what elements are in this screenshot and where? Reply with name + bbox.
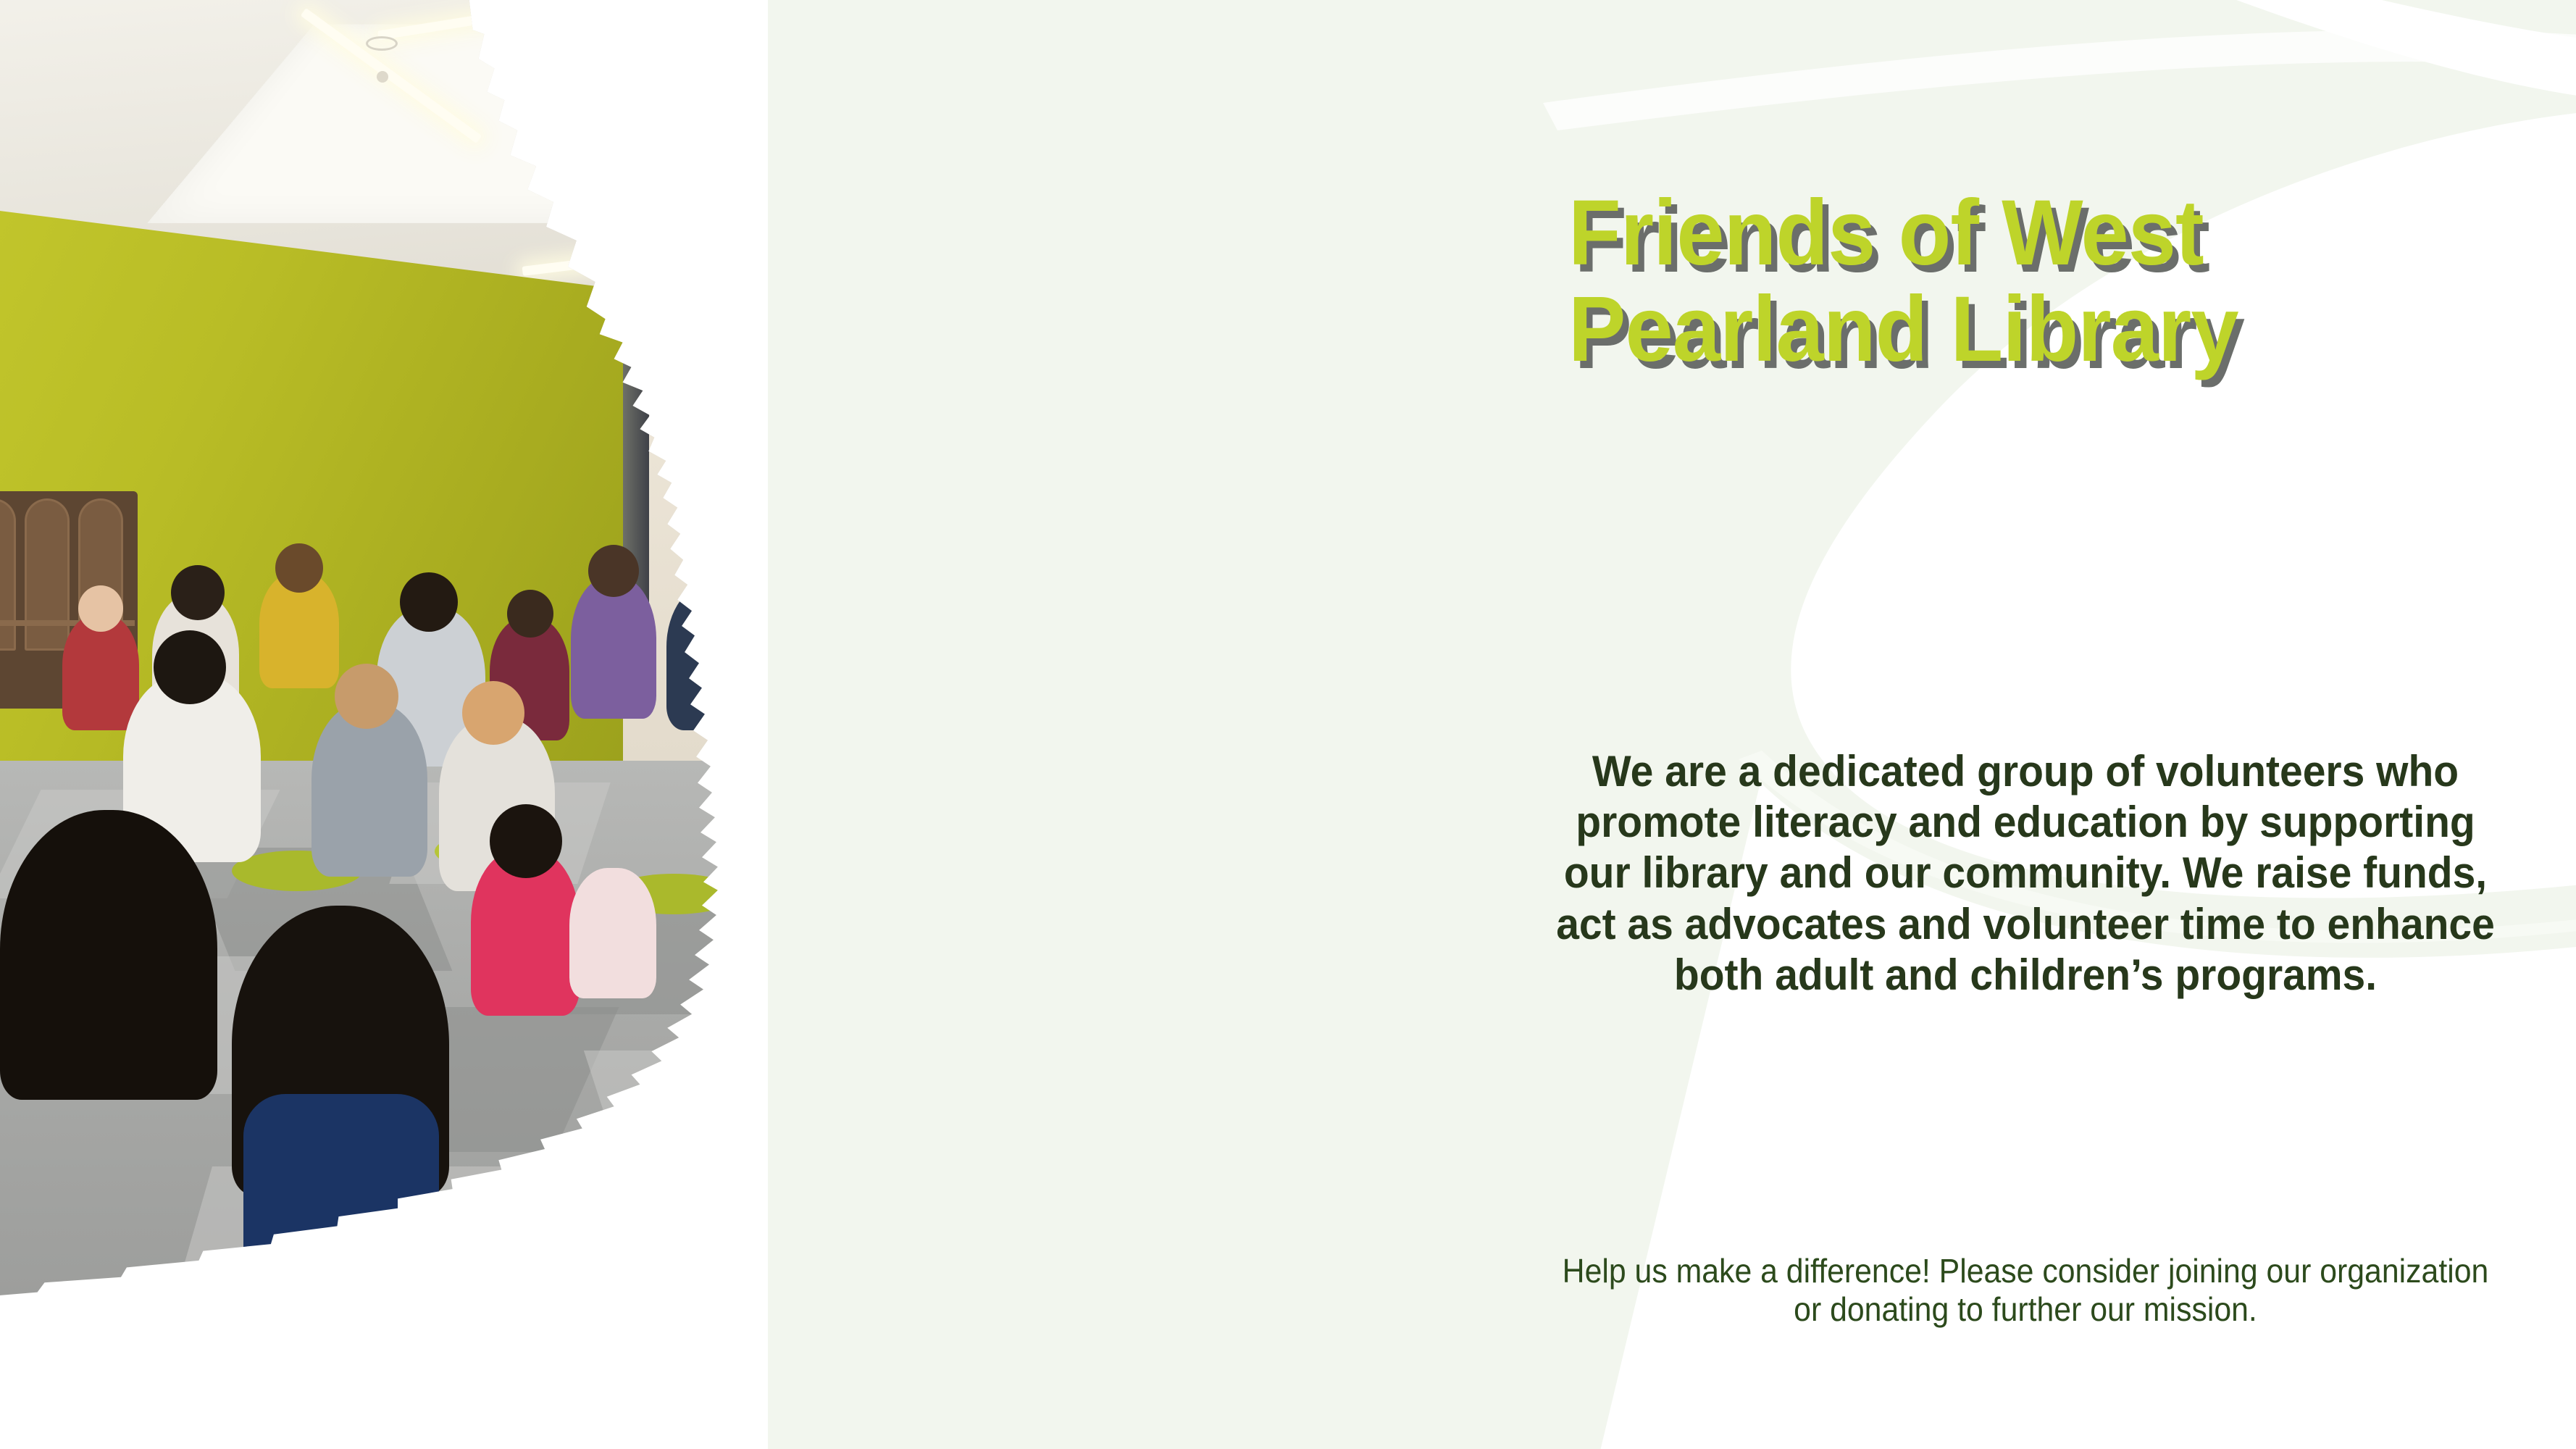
ceiling-light-strip [961, 0, 1169, 170]
photo-room: Time For a Book! [0, 0, 1413, 1123]
ceiling-panel [147, 25, 1200, 223]
shelf-arch [0, 498, 16, 651]
laptop-base [1023, 565, 1113, 575]
window-frame-bottom [623, 257, 1270, 370]
audience-person [1316, 674, 1410, 811]
ceiling-light-strip [653, 6, 955, 52]
cloud-graphic: Time For a Book! [984, 316, 1271, 494]
audience-person-foreground [0, 810, 217, 1100]
audience-person [311, 703, 427, 877]
audience-person [795, 707, 933, 903]
backpack [991, 962, 1078, 1071]
audience-head [78, 585, 123, 632]
picture-book [863, 548, 936, 610]
audience-head [490, 804, 562, 878]
audience-person [971, 787, 1050, 895]
presentation-screen: Time For a Book! [969, 295, 1287, 515]
audience-head [588, 545, 639, 597]
backpack-strap [979, 948, 1037, 977]
ceiling-sprinkler [377, 71, 388, 83]
screen-text-2: Book! [1092, 404, 1164, 436]
audience-head [693, 549, 746, 604]
audience-head [171, 565, 225, 620]
audience-head [335, 664, 398, 729]
ceiling-vent [366, 36, 398, 51]
presenter [904, 427, 984, 732]
page-title: Friends of West Pearland Library [1568, 185, 2458, 377]
window-frame-top [622, 0, 1276, 100]
presenter-jacket [913, 490, 979, 635]
audience-head [1194, 619, 1263, 691]
wall-cabinet [977, 572, 1239, 665]
text-column: Friends of West Pearland Library We are … [1478, 0, 2576, 1449]
call-to-action-text: Help us make a difference! Please consid… [1557, 1252, 2495, 1329]
screen-text: Time For a [1061, 372, 1193, 407]
presenter-hair-side [955, 459, 975, 546]
presenter-skirt [923, 623, 971, 732]
cream-wall [623, 304, 1413, 797]
table-leg [969, 572, 976, 670]
ceiling-light-strip [758, 193, 979, 281]
presenter-hand [915, 584, 945, 606]
presenter-hair [921, 427, 968, 494]
navy-hoodie [243, 1094, 439, 1282]
table-props [1165, 559, 1199, 572]
audience-head [462, 681, 524, 745]
audience-head [956, 638, 1016, 698]
long-hair [1191, 667, 1271, 833]
audience-person [1166, 659, 1297, 862]
audience-person-foreground [569, 868, 656, 998]
audience-person [666, 581, 775, 730]
audience-head [984, 758, 1033, 809]
presenter-shirt [936, 497, 956, 584]
audience-person [571, 577, 656, 719]
audience-head [154, 630, 226, 704]
face-mask [927, 462, 961, 484]
floor-cushion [761, 838, 877, 875]
laptop [1033, 528, 1098, 571]
mission-statement: We are a dedicated group of volunteers w… [1547, 746, 2504, 1001]
power-cord [1103, 582, 1193, 664]
table-leg [1235, 569, 1242, 663]
window-mullion [711, 138, 735, 355]
audience-head [1092, 572, 1152, 633]
audience-head [400, 572, 458, 632]
audience-person [1066, 607, 1175, 774]
photo-canvas: Time For a Book! [0, 0, 1413, 1369]
clerestory-windows [627, 80, 1279, 362]
audience-head [275, 543, 323, 593]
shelf-arch [25, 498, 70, 651]
wall-outlet [1129, 621, 1167, 643]
audience-person [934, 672, 1043, 832]
window-mullion [1059, 87, 1082, 315]
audience-head [1333, 640, 1391, 700]
jacket-on-floor [811, 929, 978, 1009]
table-display-box [1173, 540, 1203, 567]
library-photo: Time For a Book! [0, 0, 1413, 1369]
presenter-face [929, 445, 961, 484]
audience-head [507, 590, 553, 638]
table-top [963, 561, 1247, 581]
floor-cushion [826, 927, 956, 968]
orange-bag [1040, 769, 1142, 848]
audience-person [62, 614, 139, 730]
slide-root: Time For a Book! [0, 0, 2576, 1449]
audience-head [826, 664, 898, 739]
window-mullion [884, 112, 907, 337]
